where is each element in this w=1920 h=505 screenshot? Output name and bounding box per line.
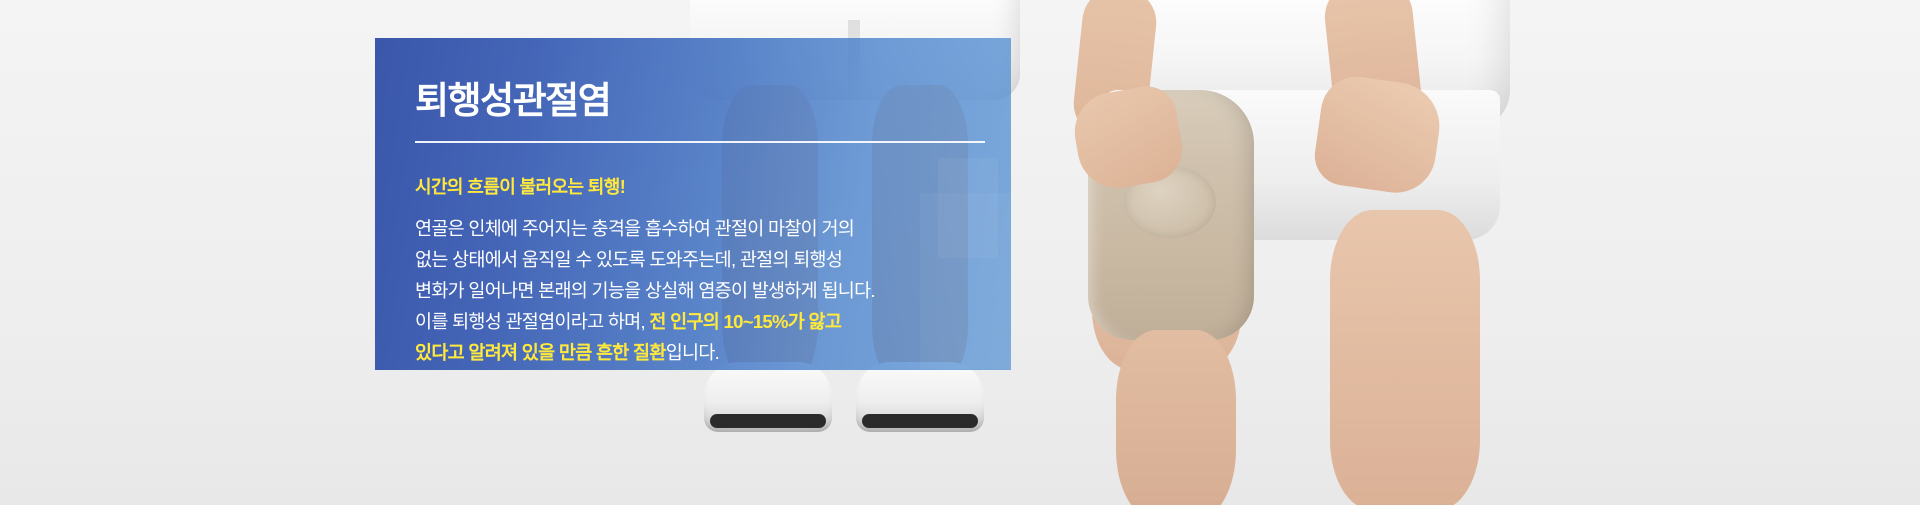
right-calf (1116, 330, 1236, 505)
banner-stage: 퇴행성관절염 시간의 흐름이 불러오는 퇴행! 연골은 인체에 주어지는 충격을… (0, 0, 1920, 505)
body-line-3: 변화가 일어나면 본래의 기능을 상실해 염증이 발생하게 됩니다. (415, 275, 981, 306)
panel-light-artifact-2 (920, 193, 1016, 369)
body-line-1-text: 연골은 인체에 주어지는 충격을 흡수하여 관절이 마찰이 거의 (415, 218, 854, 239)
body-line-4-text: 이를 퇴행성 관절염이라고 하며, (415, 311, 649, 332)
body-line-1: 연골은 인체에 주어지는 충격을 흡수하여 관절이 마찰이 거의 (415, 213, 981, 244)
body-line-5-text: 입니다. (666, 342, 719, 363)
body-line-5-highlight: 있다고 알려져 있을 만큼 흔한 질환 (415, 342, 666, 363)
body-line-2-text: 없는 상태에서 움직일 수 있도록 도와주는데, 관절의 퇴행성 (415, 249, 842, 270)
info-panel: 퇴행성관절염 시간의 흐름이 불러오는 퇴행! 연골은 인체에 주어지는 충격을… (375, 38, 1011, 370)
body-line-5: 있다고 알려져 있을 만큼 흔한 질환입니다. (415, 337, 981, 368)
body-line-4: 이를 퇴행성 관절염이라고 하며, 전 인구의 10~15%가 앓고 (415, 306, 981, 337)
body-line-2: 없는 상태에서 움직일 수 있도록 도와주는데, 관절의 퇴행성 (415, 244, 981, 275)
title-divider (415, 141, 985, 143)
photo-person-right (1030, 0, 1550, 505)
body-line-3-text: 변화가 일어나면 본래의 기능을 상실해 염증이 발생하게 됩니다. (415, 280, 875, 301)
right-thigh-right (1330, 210, 1480, 505)
body-line-4-highlight: 전 인구의 10~15%가 앓고 (649, 311, 841, 332)
page-title: 퇴행성관절염 (415, 82, 1011, 119)
panel-body: 연골은 인체에 주어지는 충격을 흡수하여 관절이 마찰이 거의 없는 상태에서… (415, 213, 981, 368)
left-sneaker-a (704, 362, 832, 432)
left-sneaker-b (856, 362, 984, 432)
